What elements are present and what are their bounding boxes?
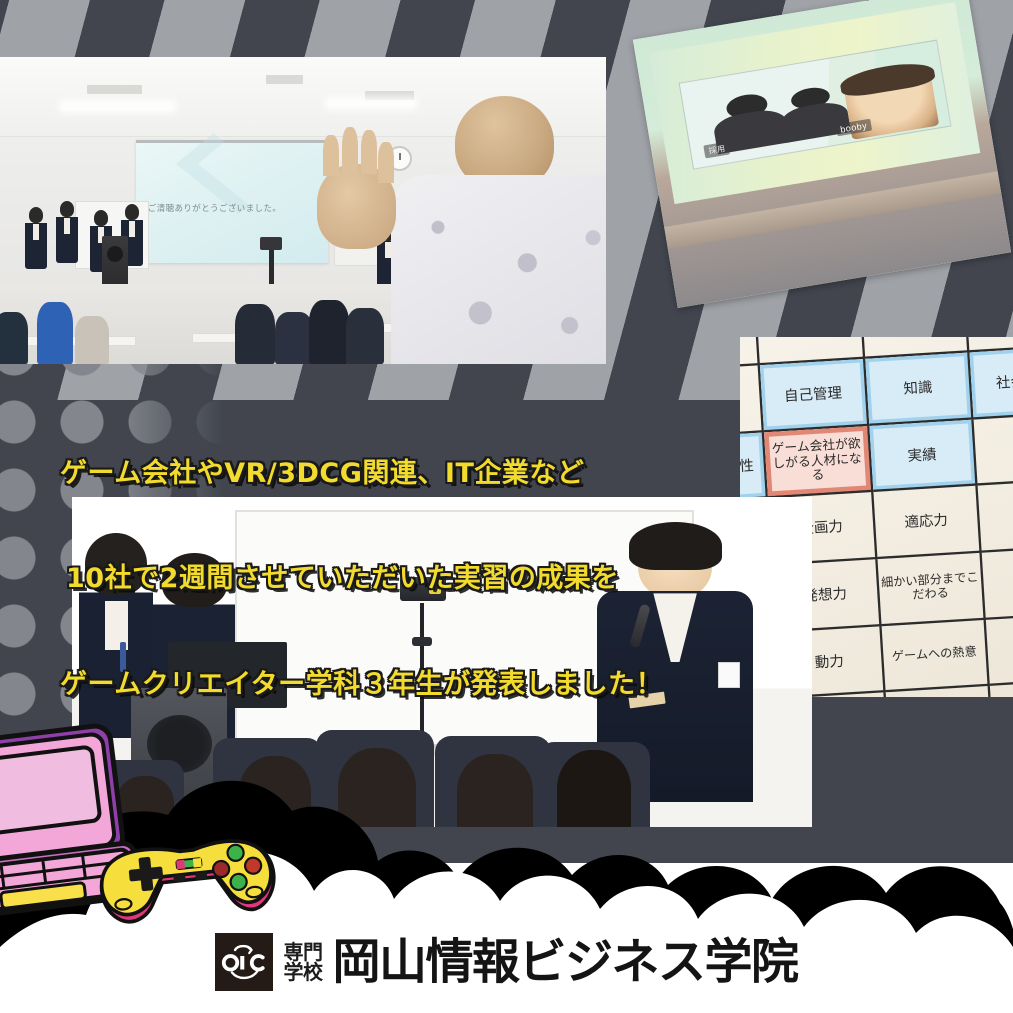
projector-screen: ご清聴ありがとうございました。 [136,140,328,263]
finger [378,142,394,183]
videocall-window: 採用 booby [679,39,951,169]
mandala-cell-center: ゲーム会社が欲しがる人材になる [764,426,873,499]
finger [323,135,339,176]
mandala-cell: 知識 [865,353,974,426]
participant-name-tag-left: 採用 [704,142,731,159]
slide-text: ご清聴ありがとうございました。 [148,202,282,214]
finger [361,130,377,174]
logo-subtitle: 専門 学校 [283,942,322,983]
seated-attendee [275,312,313,364]
seated-attendee [309,300,349,364]
projected-board: 採用 booby [649,2,981,204]
school-name: 岡山情報ビジネス学院 [332,938,797,986]
headline-line-1: ゲーム会社やVR/3DCG関連、IT企業など [60,456,663,491]
oic-glyph-icon [220,942,268,982]
participant-hair [838,58,936,99]
standing-student [56,201,78,263]
mandala-cell [974,414,1013,486]
seated-attendee [0,312,28,364]
ceiling-vent [87,85,143,94]
poster-canvas: ご清聴ありがとうございました。 [0,0,1013,1013]
mandala-cell: 自己管理 [760,359,869,432]
camera-on-tripod [269,248,274,284]
mandala-cell: 社会性 [970,347,1013,419]
participant-body [779,99,851,142]
seated-attendee [75,316,109,364]
headline-line-2: 10社で2週間させていただいた実習の成果を [66,561,663,596]
finger [342,127,358,174]
ceiling-light [62,103,173,110]
mandala-cell: スキル [740,337,760,370]
man-raised-hand [317,164,396,249]
mandala-cell: 適応力 [873,486,982,559]
classroom-scene: ご清聴ありがとうございました。 [0,57,606,364]
headline-line-3: ゲームクリエイター学科３年生が発表しました！ [60,667,663,702]
mandala-cell [982,547,1013,619]
ceiling-vent [266,75,303,84]
gamepad-sticker [86,810,288,949]
oic-logo-mark [215,933,273,991]
mandala-cell: 実績 [869,419,978,492]
standing-student [25,207,47,269]
seated-attendee [37,302,73,364]
mandala-cell: フ [986,614,1013,686]
mandala-cell: 細かい部分までこだわる [877,553,986,626]
school-logo: 専門 学校 岡山情報ビジネス学院 [0,933,1013,991]
mandala-cell: ゲームへの熱意 [881,619,990,692]
logo-subtitle-line-1: 専門 [283,942,322,962]
name-badge [718,662,740,688]
logo-subtitle-line-2: 学校 [283,962,322,982]
man-patterned-shirt [391,175,606,364]
seated-attendee [235,304,275,364]
photo-classroom-presentation: ご清聴ありがとうございました。 [0,57,606,364]
mandala-cell [978,480,1013,552]
foreground-man [371,91,606,364]
